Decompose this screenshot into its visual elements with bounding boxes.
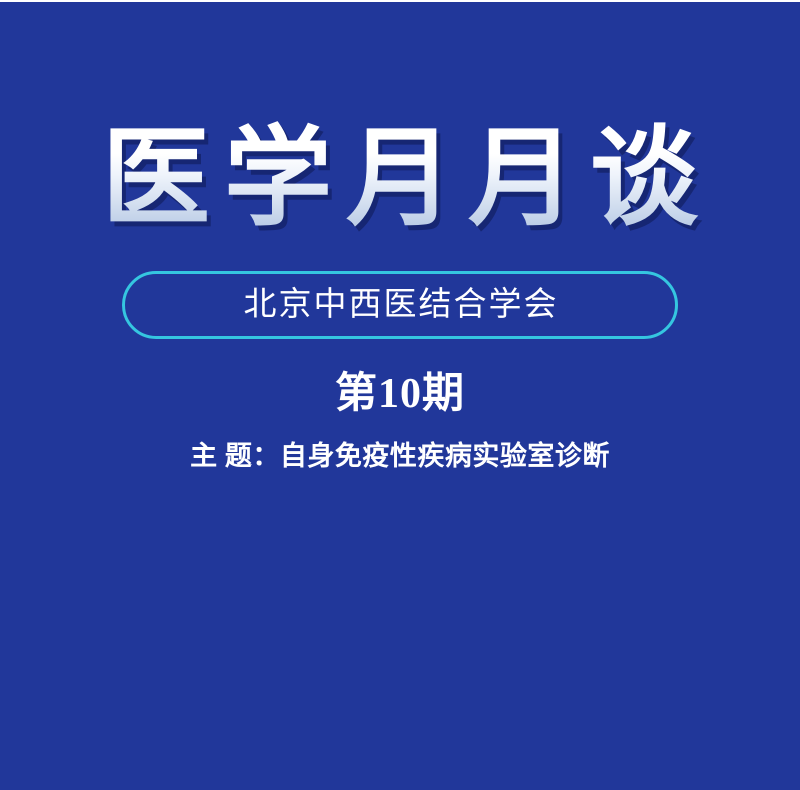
organization-badge-area: 北京中西医结合学会: [0, 271, 800, 339]
topic-line: 主 题：自身免疫性疾病实验室诊断: [0, 440, 800, 472]
poster-canvas: 医学月月谈 北京中西医结合学会 第10期 主 题：自身免疫性疾病实验室诊断: [0, 0, 800, 790]
poster-title-area: 医学月月谈: [0, 120, 800, 241]
page-title: 医学月月谈: [88, 120, 712, 241]
organization-name: 北京中西医结合学会: [242, 289, 559, 322]
issue-number: 第10期: [0, 371, 800, 417]
poster-empty-area: [0, 492, 800, 790]
organization-badge: 北京中西医结合学会: [122, 271, 678, 339]
